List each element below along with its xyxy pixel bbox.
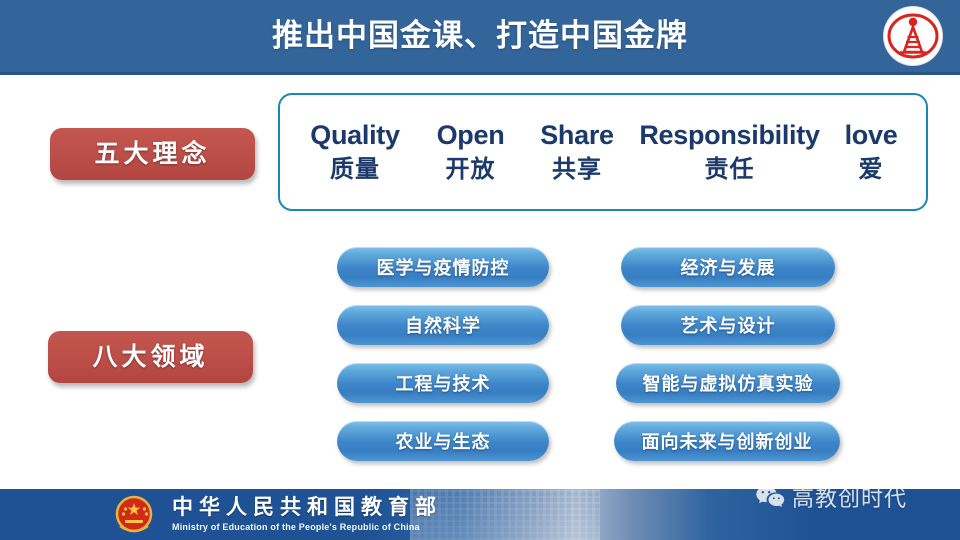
national-emblem-icon (112, 492, 156, 538)
domain-pill: 面向未来与创新创业 (614, 421, 840, 461)
concept-label-en: Quality (294, 118, 416, 152)
watermark: 高教创时代 (755, 481, 907, 513)
concept-item: Open 开放 (418, 118, 524, 186)
domain-pill: 经济与发展 (621, 247, 835, 287)
concept-item: Responsibility 责任 (631, 118, 829, 186)
concept-label-zh: 质量 (294, 154, 416, 186)
concept-label-en: love (830, 118, 912, 152)
domain-pill: 自然科学 (337, 305, 549, 345)
ministry-caption: 中华人民共和国教育部 Ministry of Education of the … (172, 495, 442, 534)
concept-label-zh: 爱 (830, 154, 912, 186)
section-label-concepts: 五大理念 (50, 128, 255, 180)
domain-pill: 艺术与设计 (621, 305, 835, 345)
domain-pill: 医学与疫情防控 (337, 247, 549, 287)
section-label-domains: 八大领域 (48, 331, 253, 383)
concept-label-en: Open (418, 118, 524, 152)
domain-pill: 智能与虚拟仿真实验 (616, 363, 840, 403)
concept-item: Share 共享 (525, 118, 629, 186)
concept-label-zh: 开放 (418, 154, 524, 186)
domain-pill: 农业与生态 (337, 421, 549, 461)
concept-item: Quality 质量 (294, 118, 416, 186)
watermark-label: 高教创时代 (792, 481, 907, 513)
page-title: 推出中国金课、打造中国金牌 (0, 0, 960, 72)
concept-label-en: Responsibility (631, 118, 829, 152)
concept-label-zh: 责任 (631, 154, 829, 186)
concept-label-en: Share (525, 118, 629, 152)
concepts-box: Quality 质量 Open 开放 Share 共享 Responsibili… (278, 93, 928, 211)
red-circular-tower-emblem-icon (884, 7, 942, 65)
header-bar: 推出中国金课、打造中国金牌 (0, 0, 960, 75)
ministry-name-zh: 中华人民共和国教育部 (172, 495, 442, 521)
ministry-name-en: Ministry of Education of the People's Re… (172, 521, 442, 534)
concept-label-zh: 共享 (525, 154, 629, 186)
wechat-icon (755, 485, 785, 509)
domain-pill: 工程与技术 (337, 363, 549, 403)
concept-item: love 爱 (830, 118, 912, 186)
